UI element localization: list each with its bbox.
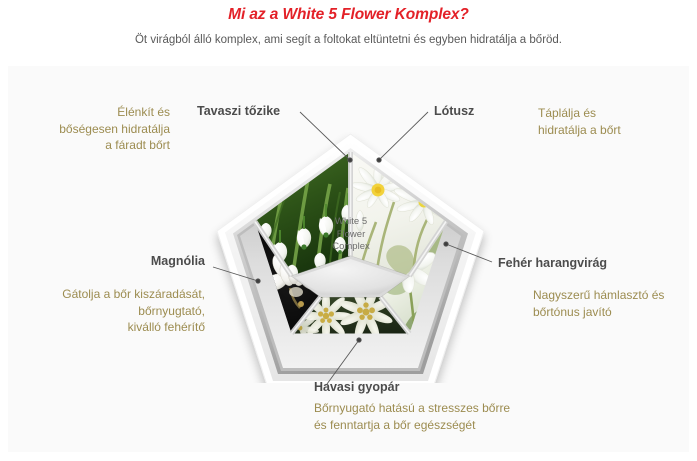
- flower-desc-tavaszi-tozike: Élénkít és bőségesen hidratálja a fáradt…: [20, 104, 170, 154]
- flower-desc-havasi-gyopar: Bőrnyugató hatású a stresszes bőrre és f…: [314, 400, 544, 433]
- flower-name-magnolia[interactable]: Magnólia: [70, 253, 205, 270]
- flower-name-feher-harangvirag[interactable]: Fehér harangvirág: [498, 255, 668, 272]
- flower-name-tavaszi-tozike[interactable]: Tavaszi tőzike: [197, 103, 307, 120]
- page-title: Mi az a White 5 Flower Komplex?: [0, 0, 697, 24]
- flower-name-havasi-gyopar[interactable]: Havasi gyopár: [314, 379, 484, 396]
- center-complex-label: White 5 Flower Complex: [318, 216, 384, 254]
- page-subtitle: Öt virágból álló komplex, ami segít a fo…: [0, 24, 697, 47]
- infographic-root: Mi az a White 5 Flower Komplex? Öt virág…: [0, 0, 697, 461]
- pentagon-svg: [208, 128, 493, 383]
- header: Mi az a White 5 Flower Komplex? Öt virág…: [0, 0, 697, 47]
- flower-name-lotusz[interactable]: Lótusz: [434, 103, 544, 120]
- flower-desc-feher-harangvirag: Nagyszerű hámlasztó és bőrtónus javító: [533, 287, 693, 320]
- flower-pentagon-diagram: [208, 128, 493, 383]
- flower-desc-magnolia: Gátolja a bőr kiszáradását, bőrnyugtató,…: [15, 286, 205, 336]
- flower-desc-lotusz: Táplálja és hidratálja a bőrt: [538, 105, 688, 138]
